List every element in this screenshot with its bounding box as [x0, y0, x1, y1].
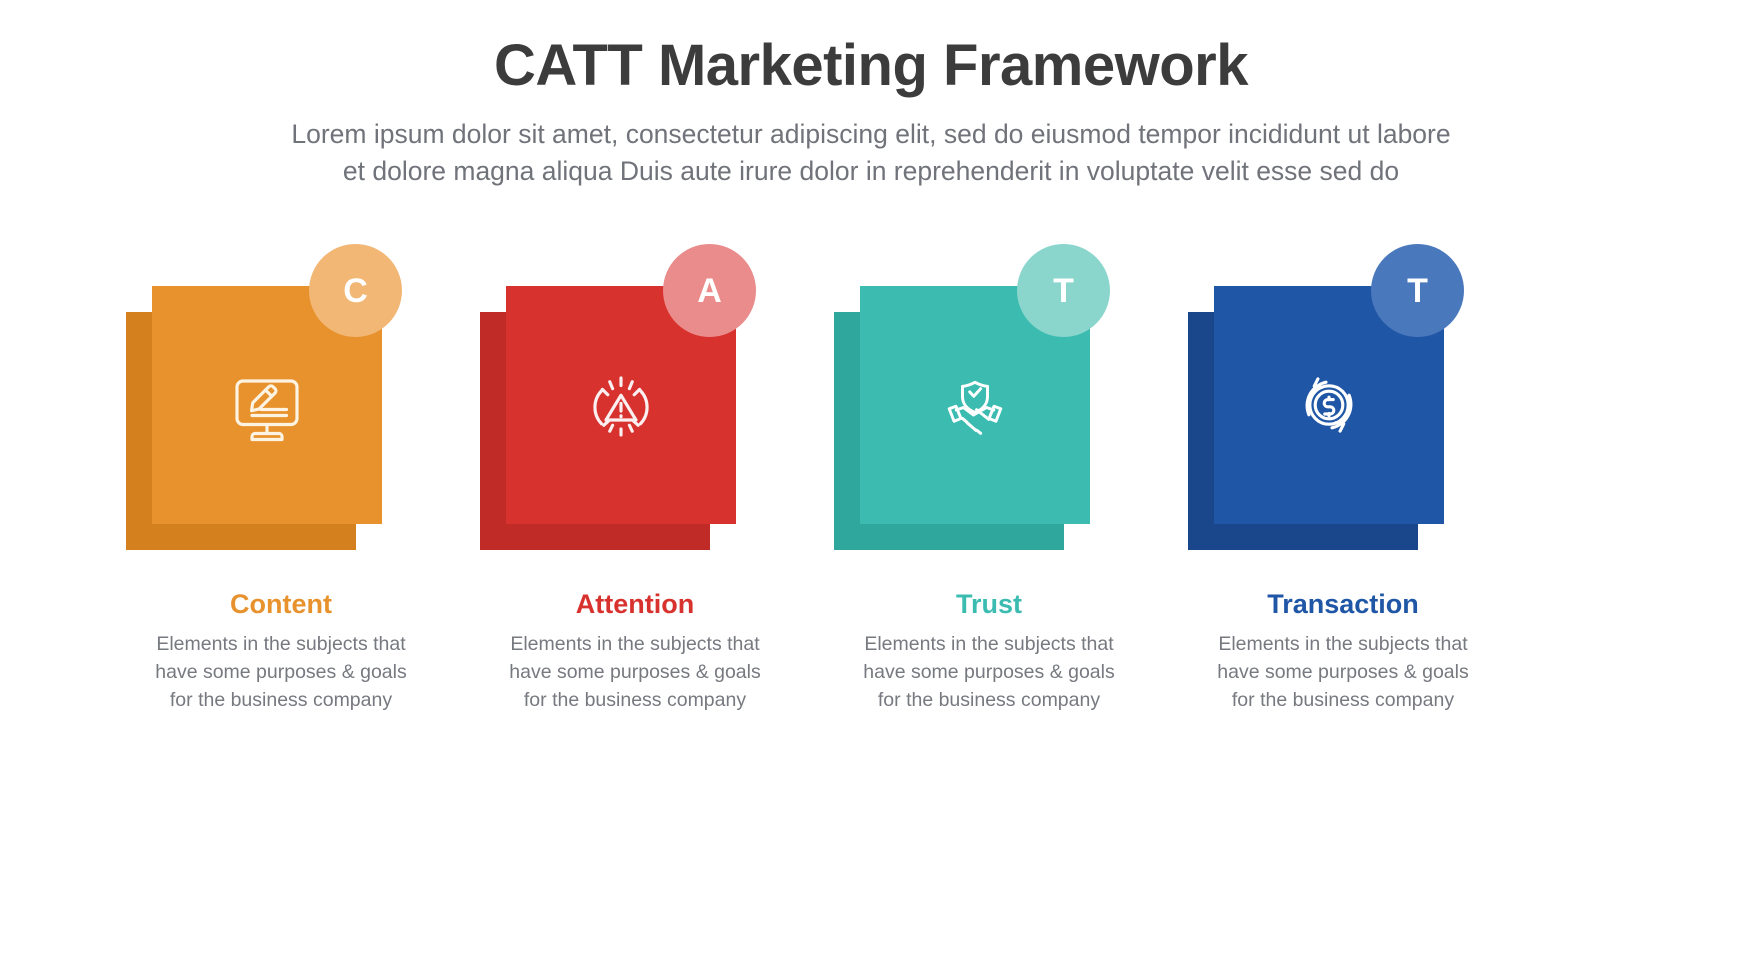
card-zone: C [104, 258, 458, 558]
badge-letter: A [697, 274, 722, 308]
page-title: CATT Marketing Framework [0, 34, 1742, 98]
desc-line-1: Elements in the subjects that [818, 631, 1160, 659]
text-block: Trust Elements in the subjects that have… [812, 588, 1166, 714]
subtitle-line-1: Lorem ipsum dolor sit amet, consectetur … [131, 116, 1611, 154]
desc-line-3: for the business company [1172, 687, 1514, 715]
item-description: Elements in the subjects that have some … [818, 631, 1160, 714]
desc-line-1: Elements in the subjects that [1172, 631, 1514, 659]
infographic-page: CATT Marketing Framework Lorem ipsum dol… [0, 0, 1742, 980]
desc-line-3: for the business company [110, 687, 452, 715]
subtitle-line-2: et dolore magna aliqua Duis aute irure d… [131, 153, 1611, 191]
item-title: Transaction [1172, 588, 1514, 620]
text-block: Content Elements in the subjects that ha… [104, 588, 458, 714]
desc-line-2: have some purposes & goals [464, 659, 806, 687]
desc-line-3: for the business company [818, 687, 1160, 715]
framework-item-transaction[interactable]: T Transaction Elements in the subjects t… [1166, 258, 1520, 714]
badge-circle-a[interactable]: A [663, 244, 756, 337]
badge-circle-t-transaction[interactable]: T [1371, 244, 1464, 337]
desc-line-2: have some purposes & goals [1172, 659, 1514, 687]
framework-item-attention[interactable]: A Attention Elements in the subjects tha… [458, 258, 812, 714]
badge-letter: T [1053, 274, 1074, 308]
badge-letter: C [343, 274, 368, 308]
text-block: Attention Elements in the subjects that … [458, 588, 812, 714]
item-title: Attention [464, 588, 806, 620]
desc-line-1: Elements in the subjects that [110, 631, 452, 659]
item-title: Trust [818, 588, 1160, 620]
item-description: Elements in the subjects that have some … [110, 631, 452, 714]
card-zone: A [458, 258, 812, 558]
card-zone: T [1166, 258, 1520, 558]
page-subtitle: Lorem ipsum dolor sit amet, consectetur … [131, 116, 1611, 191]
badge-circle-t-trust[interactable]: T [1017, 244, 1110, 337]
item-description: Elements in the subjects that have some … [1172, 631, 1514, 714]
framework-columns: C Content Elements in the subjects that … [0, 258, 1742, 714]
framework-item-content[interactable]: C Content Elements in the subjects that … [104, 258, 458, 714]
desc-line-3: for the business company [464, 687, 806, 715]
card-zone: T [812, 258, 1166, 558]
desc-line-2: have some purposes & goals [110, 659, 452, 687]
badge-letter: T [1407, 274, 1428, 308]
item-title: Content [110, 588, 452, 620]
text-block: Transaction Elements in the subjects tha… [1166, 588, 1520, 714]
item-description: Elements in the subjects that have some … [464, 631, 806, 714]
framework-item-trust[interactable]: T Trust Elements in the subjects that ha… [812, 258, 1166, 714]
page-header: CATT Marketing Framework Lorem ipsum dol… [0, 0, 1742, 191]
badge-circle-c[interactable]: C [309, 244, 402, 337]
desc-line-2: have some purposes & goals [818, 659, 1160, 687]
desc-line-1: Elements in the subjects that [464, 631, 806, 659]
